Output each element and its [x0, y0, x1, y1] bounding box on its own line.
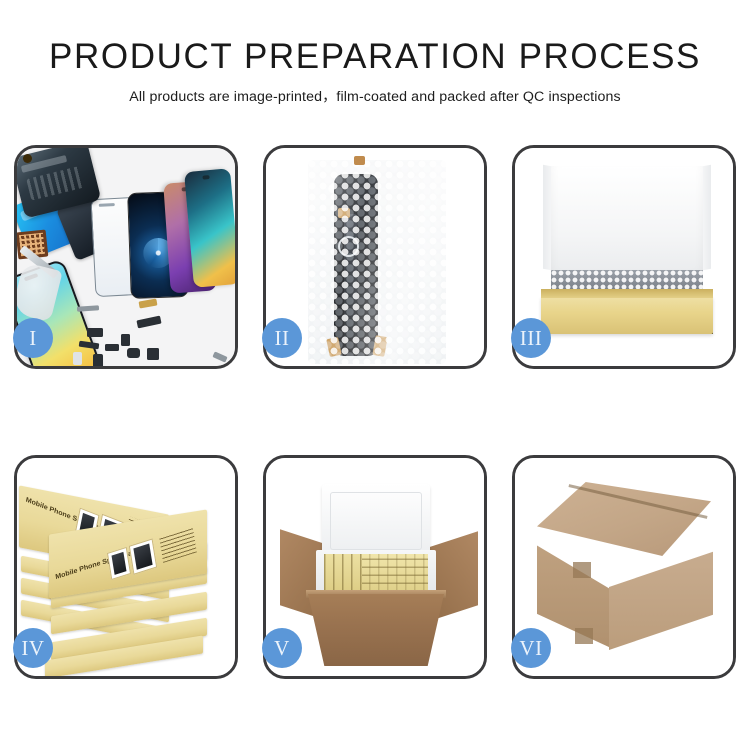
- small-part: [121, 334, 130, 346]
- process-step-panel-2: II Screen assembly wrapped in bubble wra…: [263, 145, 487, 369]
- small-part: [127, 348, 140, 358]
- plastic-sheen: [308, 160, 446, 364]
- carton-tape-upper: [573, 562, 591, 578]
- step-badge-2: II: [262, 318, 302, 358]
- carton-left-face: [537, 526, 611, 648]
- small-part: [77, 305, 99, 312]
- carton-body: [308, 594, 444, 666]
- step-3-caption: Open yellow kraft mailer box with white …: [515, 148, 516, 149]
- small-part: [212, 351, 227, 362]
- box-lid: [551, 166, 703, 282]
- page-subtitle: All products are image-printed，film-coat…: [0, 86, 750, 106]
- step-2-caption: Screen assembly wrapped in bubble wrap b…: [266, 148, 267, 149]
- process-step-panel-6: VI Sealed brown cardboard shipping carto…: [512, 455, 736, 679]
- step-1-caption: Mobile phone screens, LCD assemblies and…: [17, 148, 18, 149]
- small-part: [73, 352, 82, 365]
- seal-tab: [354, 156, 365, 165]
- page-header: PRODUCT PREPARATION PROCESS All products…: [0, 0, 750, 106]
- step-badge-1: I: [13, 318, 53, 358]
- step-badge-4: IV: [13, 628, 53, 668]
- product-preparation-page: PRODUCT PREPARATION PROCESS All products…: [0, 0, 750, 750]
- step-badge-6: VI: [511, 628, 551, 668]
- process-step-panel-3: III Open yellow kraft mailer box with wh…: [512, 145, 736, 369]
- process-step-panel-1: I Mobile phone screens, LCD assemblies a…: [14, 145, 238, 369]
- yellow-mailer-box: [541, 296, 713, 334]
- packed-yellow-boxes: [324, 554, 428, 592]
- carton-tape-lower: [575, 628, 593, 644]
- small-part: [93, 354, 103, 366]
- small-part: [147, 348, 159, 360]
- process-step-panel-4: Mobile Phone Spare Parts Mobile Phone Sp…: [14, 455, 238, 679]
- phone-display-teal: [184, 168, 235, 288]
- small-part: [105, 344, 119, 351]
- process-step-panel-5: V Boxes packed inside white foam case wi…: [263, 455, 487, 679]
- box-window: [107, 547, 131, 580]
- process-steps-grid: I Mobile phone screens, LCD assemblies a…: [14, 145, 736, 679]
- step-5-caption: Boxes packed inside white foam case with…: [266, 458, 267, 459]
- step-badge-3: III: [511, 318, 551, 358]
- small-part: [87, 328, 103, 337]
- small-part: [136, 316, 161, 329]
- step-6-caption: Sealed brown cardboard shipping carton: [515, 458, 516, 459]
- box-spec-lines: [159, 527, 197, 563]
- box-window: [129, 538, 157, 574]
- step-badge-5: V: [262, 628, 302, 668]
- page-title: PRODUCT PREPARATION PROCESS: [0, 38, 750, 76]
- small-part: [139, 298, 158, 308]
- carton-top-face: [537, 482, 711, 556]
- foam-case-lid: [322, 484, 430, 558]
